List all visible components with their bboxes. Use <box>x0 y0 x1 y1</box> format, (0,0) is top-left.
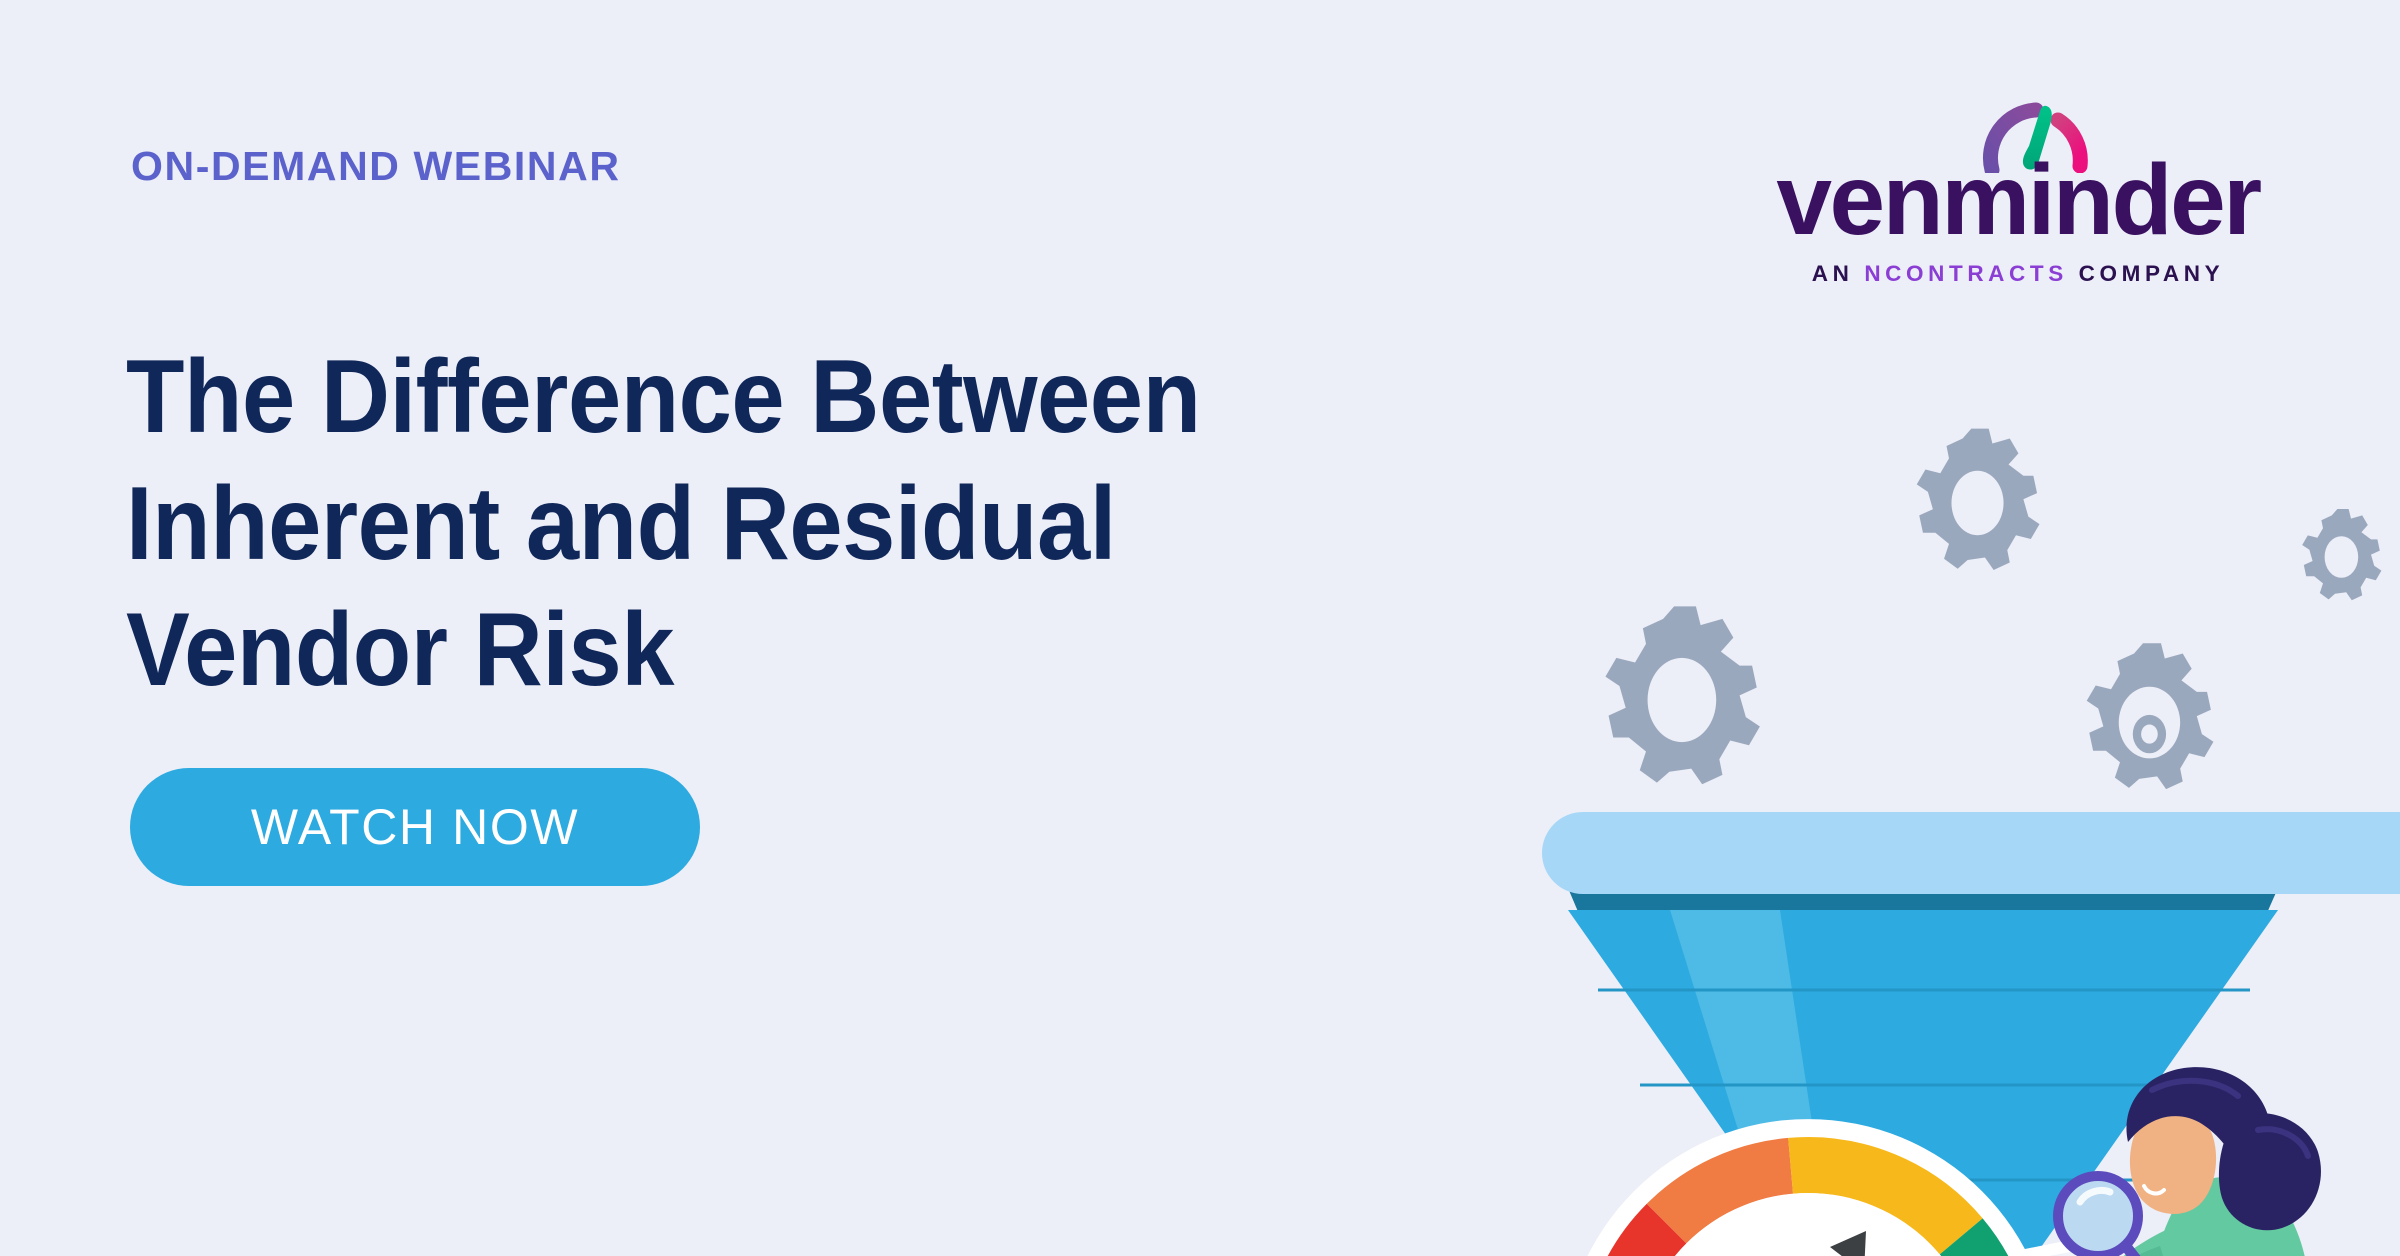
venminder-logo[interactable]: venminder AN NCONTRACTS COMPANY <box>1758 98 2278 298</box>
webinar-promo-banner: ON-DEMAND WEBINAR The Difference Between… <box>0 0 2400 1256</box>
watch-now-button[interactable]: WATCH NOW <box>130 768 700 886</box>
tagline-brand: NCONTRACTS <box>1864 261 2068 286</box>
tagline-suffix: COMPANY <box>2068 261 2224 286</box>
venminder-wordmark: venminder <box>1758 150 2278 250</box>
headline-line-2: Inherent and Residual <box>126 461 1432 588</box>
funnel-rim <box>1542 812 2400 894</box>
venminder-tagline: AN NCONTRACTS COMPANY <box>1758 261 2278 287</box>
eyebrow-label: ON-DEMAND WEBINAR <box>131 143 621 190</box>
risk-funnel-illustration <box>1480 330 2400 1256</box>
gears-top-group <box>1605 429 2400 790</box>
tagline-prefix: AN <box>1812 261 1865 286</box>
headline-line-1: The Difference Between <box>126 334 1432 461</box>
page-title: The Difference Between Inherent and Resi… <box>126 334 1432 715</box>
headline-line-3: Vendor Risk <box>126 587 1432 714</box>
